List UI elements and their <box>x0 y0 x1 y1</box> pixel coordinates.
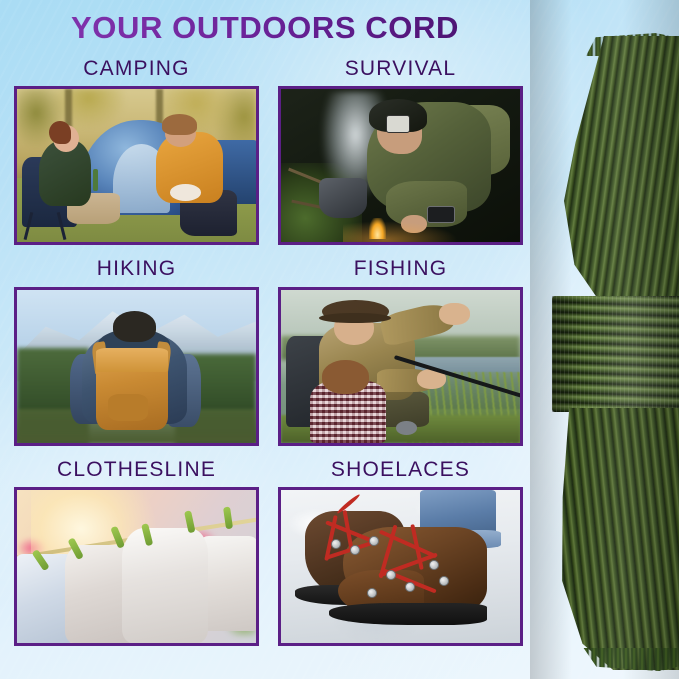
cord-lower-strands <box>531 408 679 670</box>
fishing-reel-icon <box>396 421 418 435</box>
hiker-head <box>113 311 156 342</box>
hiking-scene <box>17 290 256 443</box>
flame-icon <box>369 218 386 239</box>
headlamp-icon <box>386 115 410 132</box>
category-row: CLOTHESLINE <box>0 456 530 646</box>
bottle-icon <box>93 169 98 191</box>
category-grid: CAMPING <box>0 55 530 656</box>
category-card-hiking[interactable]: HIKING <box>14 255 259 445</box>
eyelet-hook-icon <box>386 570 396 580</box>
clothesline-scene <box>17 490 256 643</box>
category-label: CAMPING <box>14 55 259 86</box>
shoelaces-scene <box>281 490 520 643</box>
hanging-garment <box>122 528 208 643</box>
category-photo-hiking[interactable] <box>14 287 259 446</box>
man-raised-hand <box>439 303 470 324</box>
boy-head <box>322 360 370 394</box>
category-card-fishing[interactable]: FISHING <box>278 255 523 445</box>
cord-upper-strands <box>530 36 679 302</box>
plate-icon <box>170 184 201 201</box>
beanie-icon <box>162 114 198 135</box>
ember-glow <box>343 221 458 242</box>
category-card-shoelaces[interactable]: SHOELACES <box>278 456 523 646</box>
category-photo-survival[interactable] <box>278 86 523 245</box>
page-title: YOUR OUTDOORS CORD <box>0 12 530 43</box>
category-photo-clothesline[interactable] <box>14 487 259 646</box>
eyelet-hook-icon <box>439 576 449 586</box>
survival-scene <box>281 89 520 242</box>
category-card-clothesline[interactable]: CLOTHESLINE <box>14 456 259 646</box>
category-card-survival[interactable]: SURVIVAL <box>278 55 523 245</box>
cooking-pot-icon <box>319 178 367 218</box>
category-card-camping[interactable]: CAMPING <box>14 55 259 245</box>
infographic-root: YOUR OUTDOORS CORD CAMPING <box>0 0 679 679</box>
category-label: HIKING <box>14 255 259 286</box>
fishing-scene <box>281 290 520 443</box>
category-photo-fishing[interactable] <box>278 287 523 446</box>
category-photo-camping[interactable] <box>14 86 259 245</box>
paracord-product-image <box>530 0 679 679</box>
category-row: HIKING <box>0 255 530 445</box>
backpack-flap <box>96 348 168 372</box>
category-label: SHOELACES <box>278 456 523 487</box>
content-column: YOUR OUTDOORS CORD CAMPING <box>0 0 530 679</box>
backpack-pocket <box>108 394 149 422</box>
category-label: FISHING <box>278 255 523 286</box>
category-label: CLOTHESLINE <box>14 456 259 487</box>
category-photo-shoelaces[interactable] <box>278 487 523 646</box>
cord-bottom-loops <box>542 648 679 674</box>
boot-front-sole <box>329 603 487 624</box>
category-label: SURVIVAL <box>278 55 523 86</box>
woman-hair <box>49 121 71 144</box>
camping-scene <box>17 89 256 242</box>
eyelet-hook-icon <box>367 588 377 598</box>
category-row: CAMPING <box>0 55 530 245</box>
cord-wrapped-middle <box>552 296 679 412</box>
